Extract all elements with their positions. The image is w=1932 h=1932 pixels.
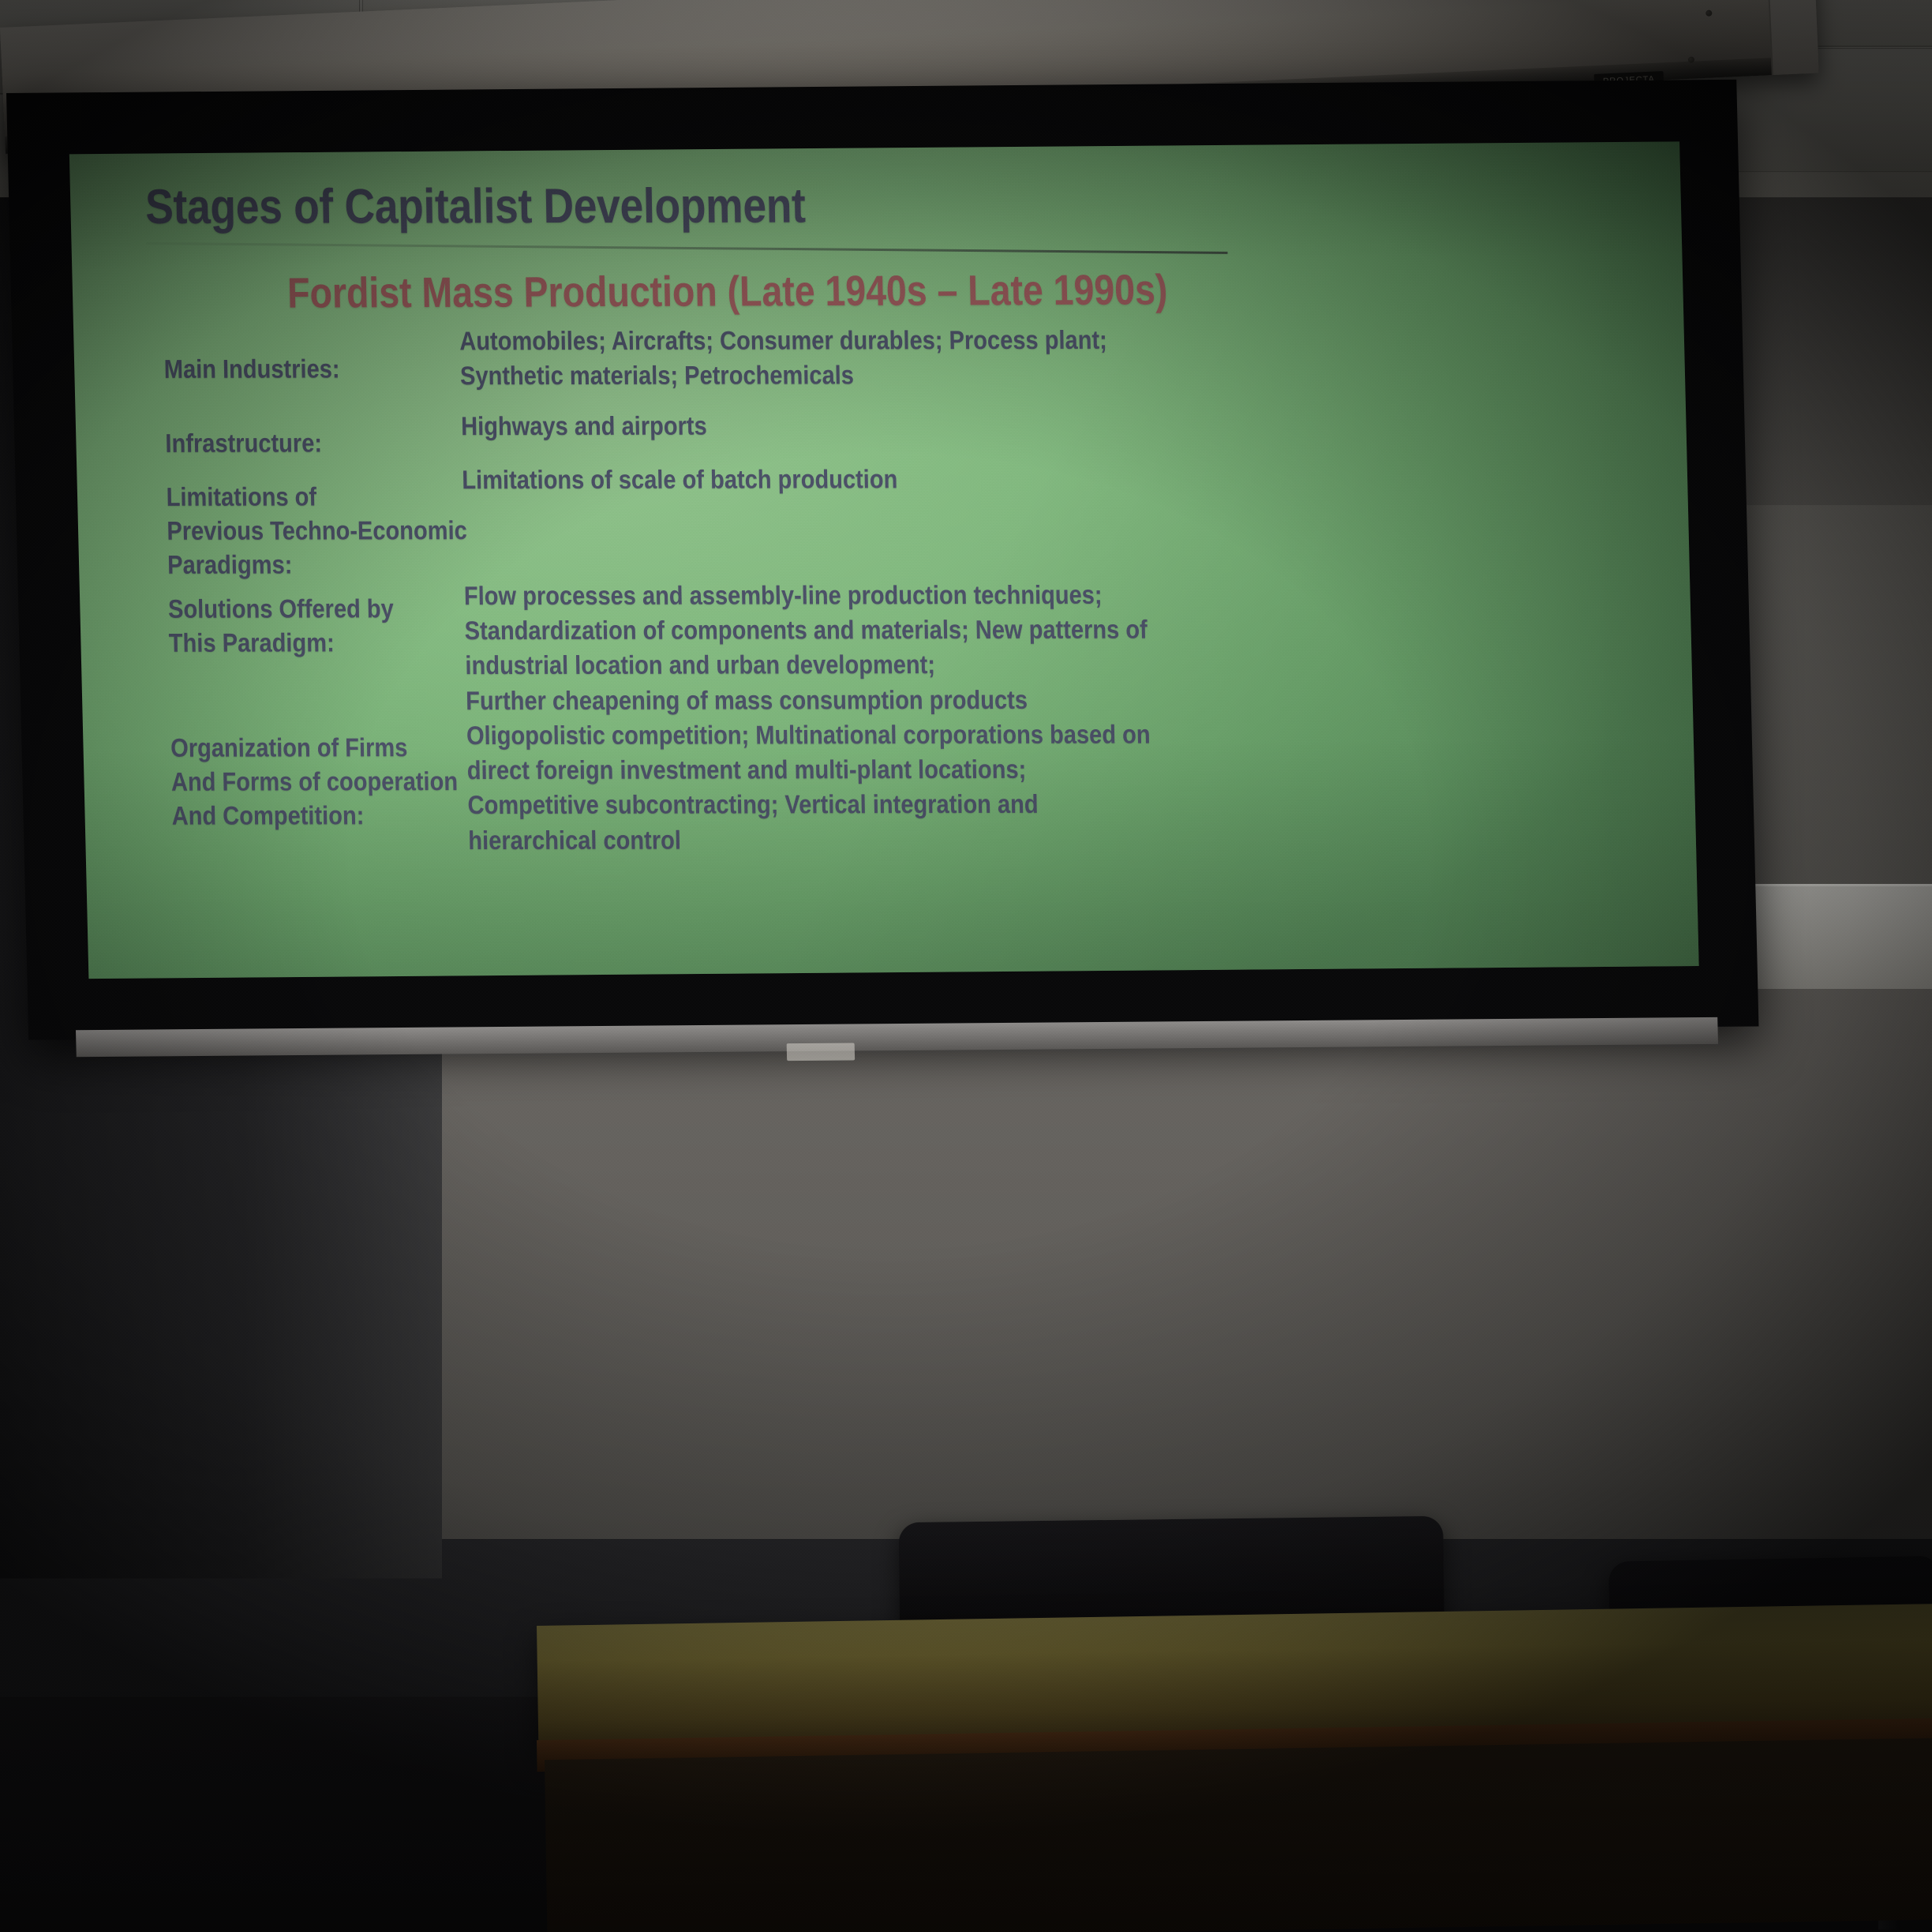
row-value-main-industries: Automobiles; Aircrafts; Consumer durable… bbox=[459, 323, 1108, 394]
housing-end-cap bbox=[1766, 0, 1819, 75]
slide-content-table: Main Industries: Automobiles; Aircrafts;… bbox=[72, 147, 1697, 974]
row-value-organization: Oligopolistic competition; Multinational… bbox=[466, 717, 1153, 858]
row-label-infrastructure: Infrastructure: bbox=[165, 426, 322, 460]
table-row: Organization of Firms And Forms of coope… bbox=[72, 147, 1682, 150]
row-label-main-industries: Main Industries: bbox=[163, 352, 339, 386]
projection-screen-surface[interactable]: Stages of Capitalist Development Fordist… bbox=[69, 141, 1699, 979]
row-value-solutions: Flow processes and assembly-line product… bbox=[464, 578, 1149, 718]
classroom-scene: PROJECTA Stages of Capitalist Developmen… bbox=[0, 0, 1932, 1932]
presentation-slide: Stages of Capitalist Development Fordist… bbox=[72, 147, 1697, 974]
row-label-organization: Organization of Firms And Forms of coope… bbox=[170, 731, 459, 833]
screen-bottom-weight bbox=[787, 1043, 856, 1061]
row-value-infrastructure: Highways and airports bbox=[461, 409, 707, 444]
table-row: Solutions Offered by This Paradigm: Flow… bbox=[72, 147, 1682, 150]
projection-screen-frame[interactable]: Stages of Capitalist Development Fordist… bbox=[6, 80, 1758, 1040]
row-value-limitations: Limitations of scale of batch production bbox=[462, 462, 898, 497]
table-row: Infrastructure: Highways and airports bbox=[72, 147, 1682, 150]
table-row: Limitations of Previous Techno-Economic … bbox=[72, 147, 1682, 150]
row-label-limitations: Limitations of Previous Techno-Economic … bbox=[166, 480, 468, 582]
table-row: Main Industries: Automobiles; Aircrafts;… bbox=[72, 147, 1682, 150]
desk-front-panel bbox=[545, 1738, 1932, 1932]
row-label-solutions: Solutions Offered by This Paradigm: bbox=[168, 592, 395, 660]
